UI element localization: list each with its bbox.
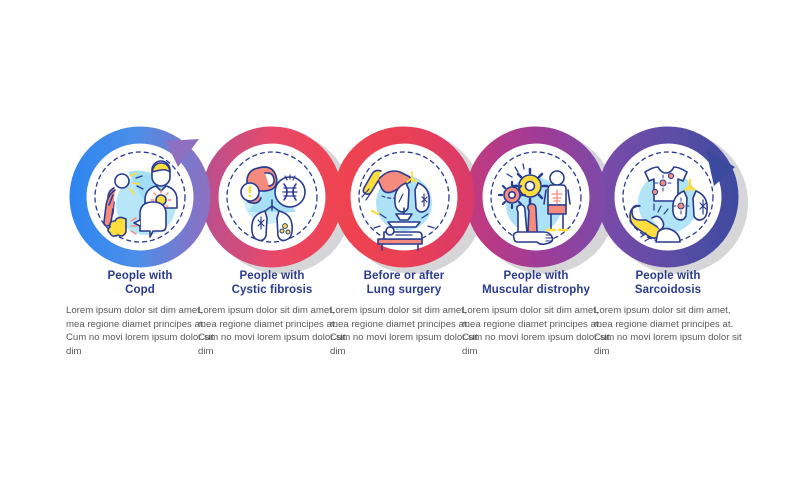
infographic-root: People with Copd Lorem ipsum dolor sit d… xyxy=(0,0,800,500)
step-5-description: Lorem ipsum dolor sit dim amet, mea regi… xyxy=(588,304,748,358)
step-5-title: People with Sarcoidosis xyxy=(588,270,748,297)
step-5: People with Sarcoidosis Lorem ipsum dolo… xyxy=(588,270,748,358)
steps-text-layer: People with Copd Lorem ipsum dolor sit d… xyxy=(0,0,800,500)
